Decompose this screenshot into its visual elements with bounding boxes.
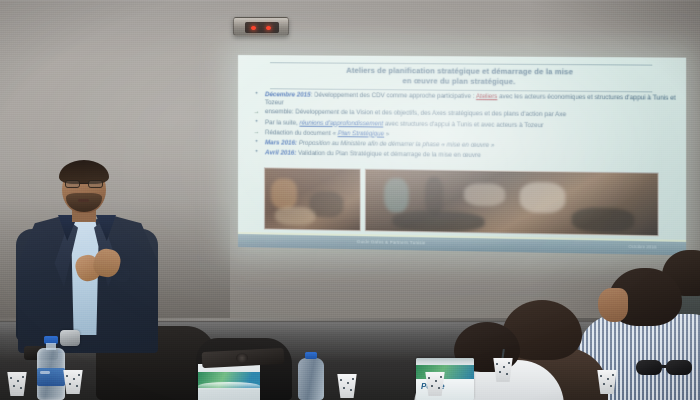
bottle-cap	[305, 352, 317, 359]
coffee-cup	[6, 372, 28, 396]
bullet-marker-icon: •	[252, 91, 261, 99]
slide-title-line-2: en œuvre du plan stratégique.	[268, 75, 654, 88]
slide-bullet-list: • Décembre 2015: Développement des CDV c…	[252, 91, 684, 165]
sunglasses-lens-left	[636, 360, 662, 375]
glasses-bridge	[80, 183, 88, 184]
bullet-body: : Développement des CDV comme approche p…	[311, 92, 476, 100]
bullet-body: Rédaction du document «	[265, 129, 338, 137]
coffee-cup	[596, 370, 624, 400]
projected-slide: Ateliers de planification stratégique et…	[238, 55, 686, 255]
water-bottle-small	[298, 352, 324, 400]
audience-face	[598, 288, 628, 322]
glasses-lens-right	[88, 180, 103, 188]
coffee-cup	[492, 358, 520, 390]
presenter	[18, 163, 158, 353]
slide-photo-group	[264, 167, 659, 236]
workshop-photo-right	[365, 169, 659, 237]
cup-pattern	[598, 373, 616, 389]
bullet-link: Plan Stratégique	[338, 130, 384, 138]
bullet-body: Proposition au Ministère afin de démarre…	[297, 140, 494, 149]
bullet-body-alt: Validation du Plan Stratégique et démarr…	[296, 150, 480, 159]
sunglasses	[636, 358, 696, 378]
conference-room-scene: Ateliers de planification stratégique et…	[0, 0, 700, 400]
bullet-link: Ateliers	[476, 93, 497, 100]
slide-title: Ateliers de planification stratégique et…	[268, 65, 654, 88]
coffee-cup	[424, 372, 450, 400]
ceiling-seam	[0, 0, 700, 1]
bullet-text: Décembre 2015: Développement des CDV com…	[265, 91, 684, 110]
glasses-icon	[65, 180, 103, 188]
arrow-marker-icon: →	[252, 109, 261, 117]
coffee-cup	[336, 374, 358, 398]
slide-footer-right: Octobre 2016	[629, 243, 657, 249]
ceiling-device-icon	[233, 17, 289, 36]
list-item: • Décembre 2015: Développement des CDV c…	[252, 91, 684, 110]
bullet-marker-icon: •	[252, 119, 261, 127]
arrow-marker-icon: →	[252, 129, 261, 137]
presenter-mouth	[78, 199, 89, 202]
remote-lens-icon	[236, 353, 249, 364]
cup-pattern	[338, 377, 356, 393]
cup-pattern	[494, 361, 512, 377]
bullet-date: Décembre 2015	[265, 91, 311, 98]
coffee-cup	[62, 370, 84, 394]
cup-pattern	[8, 375, 26, 391]
bullet-body: ensemble: Développement de la Vision et …	[265, 109, 566, 119]
slide-footer-left: Guide Dafes & Partners Tunisie	[357, 239, 426, 245]
carton-top	[416, 358, 474, 365]
bullet-marker-icon: •	[252, 139, 261, 147]
glasses-lens-left	[65, 180, 80, 188]
bullet-body-tail: »	[384, 130, 389, 137]
sunglasses-lens-right	[666, 360, 692, 375]
bullet-date: Mars 2016:	[265, 139, 297, 146]
workshop-photo-left	[264, 167, 361, 231]
device-face	[245, 22, 279, 33]
bullet-body-tail: avec structures d'appui à Tunis et avec …	[383, 120, 543, 129]
bullet-marker-icon: •	[252, 149, 261, 157]
led-indicator-icon	[266, 26, 271, 30]
bottle-label-highlight	[40, 371, 50, 374]
cup-pattern	[426, 375, 444, 391]
bullet-body: Par la suite,	[265, 119, 300, 126]
cup-pattern	[64, 373, 82, 389]
milk-carton	[198, 364, 260, 400]
bullet-date: Avril 2016:	[265, 149, 296, 156]
carton-wave	[198, 382, 260, 390]
bottle-body	[298, 358, 324, 400]
led-indicator-icon	[251, 26, 256, 30]
bullet-link: réunions d'approfondissement	[300, 119, 384, 127]
